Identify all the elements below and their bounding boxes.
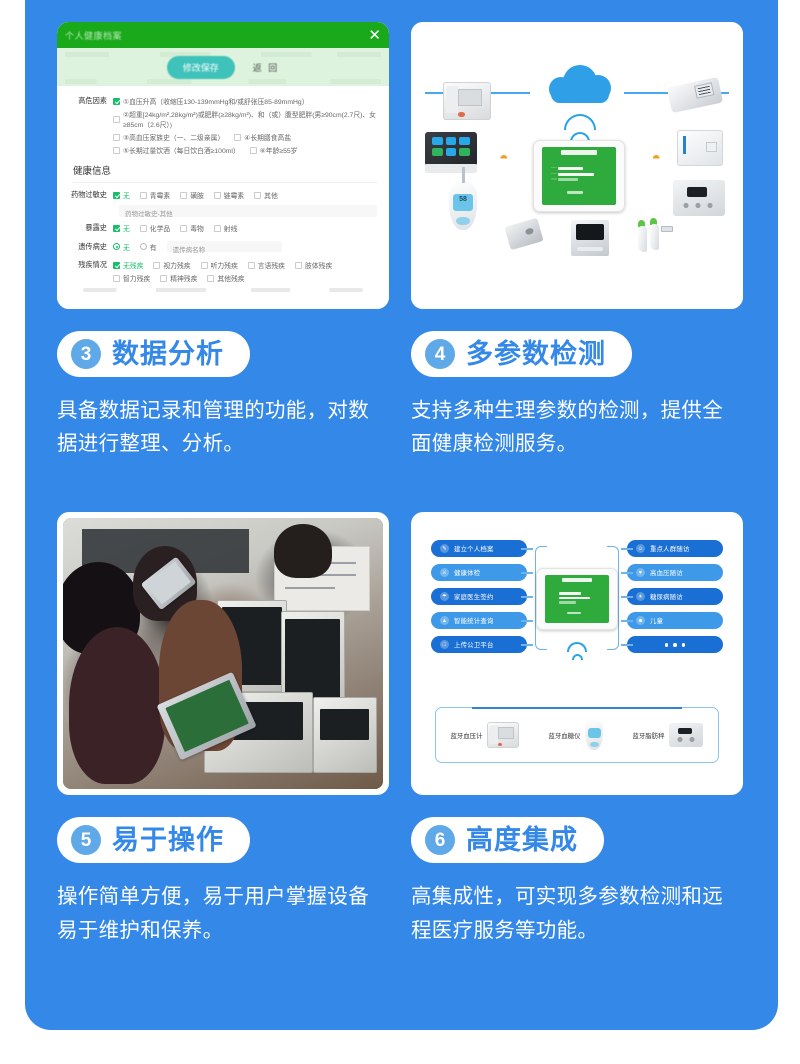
feature-pill: 4 多参数检测 xyxy=(411,331,632,377)
drug-allergy-row: 药物过敏史 无 青霉素 xyxy=(69,190,377,200)
risk-option[interactable]: ②超重[24kg/m²,28kg/m²)或肥胖(≥28kg/m²)、和（或）腹型… xyxy=(113,109,377,129)
genetic-option[interactable]: 无 xyxy=(113,242,130,252)
blood-pressure-monitor-icon xyxy=(443,82,491,120)
feature-6-description: 高集成性，可实现多参数检测和远程医疗服务等功能。 xyxy=(411,880,741,946)
tag-label: 建立个人档案 xyxy=(454,544,494,553)
exposure-option[interactable]: 无 xyxy=(113,223,130,233)
upload-icon: □ xyxy=(440,640,449,649)
drug-allergy-option[interactable]: 无 xyxy=(113,190,130,200)
bluetooth-fat-scale: 蓝牙脂肪秤 xyxy=(633,723,704,747)
health-info-section-title: 健康信息 xyxy=(73,163,377,183)
disability-option[interactable]: 精神残疾 xyxy=(160,273,197,283)
ecg-device-icon xyxy=(673,180,725,216)
feature-pill: 3 数据分析 xyxy=(57,331,250,377)
form-body: 高危因素 ①血压升高（收缩压130-139mmHg和/或舒张压85-89mmHg… xyxy=(57,86,389,292)
checkbox-icon[interactable] xyxy=(254,192,261,199)
drug-allergy-other-input[interactable]: 药物过敏史-其他 xyxy=(119,205,377,217)
tablet-screen xyxy=(545,575,609,623)
tag-hypertension-followup[interactable]: ♥ 高血压随访 xyxy=(627,564,723,581)
radio-icon[interactable] xyxy=(140,243,147,250)
disability-option[interactable]: 肢体残疾 xyxy=(295,260,332,270)
exposure-option[interactable]: 毒物 xyxy=(180,223,204,233)
feature-pill: 5 易于操作 xyxy=(57,817,250,863)
disability-option[interactable]: 其他残疾 xyxy=(207,273,244,283)
exposure-label: 暴露史 xyxy=(69,223,113,233)
checkbox-icon[interactable] xyxy=(201,262,208,269)
feature-row-bottom: 5 易于操作 操作简单方便，易于用户掌握设备易于维护和保养。 ✎ 建立个人档案 xyxy=(57,512,750,946)
connector-dash xyxy=(621,644,633,645)
tag-key-population-followup[interactable]: ☺ 重点人群随访 xyxy=(627,540,723,557)
checkbox-icon[interactable] xyxy=(113,192,120,199)
feature-block-5: 5 易于操作 操作简单方便，易于用户掌握设备易于维护和保养。 xyxy=(57,512,389,946)
genetic-disease-name-input[interactable]: 遗传病名称 xyxy=(167,241,282,252)
tag-label: 健康体检 xyxy=(454,568,480,577)
risk-option[interactable]: ⑥年龄≥55岁 xyxy=(250,145,298,155)
document-edit-icon: ✎ xyxy=(440,544,449,553)
tag-label: 重点人群随访 xyxy=(650,544,690,553)
doctor-icon: ☂ xyxy=(440,592,449,601)
tag-label: 上传公卫平台 xyxy=(454,640,494,649)
drug-allergy-option[interactable]: 链霉素 xyxy=(214,190,244,200)
bluetooth-icon: ◓ xyxy=(499,150,509,168)
disability-row: 残疾情况 无残疾 视力残疾 xyxy=(69,260,377,283)
risk-option[interactable]: ①血压升高（收缩压130-139mmHg和/或舒张压85-89mmHg） xyxy=(113,96,377,106)
checkbox-icon[interactable] xyxy=(207,275,214,282)
feature-block-4: ◓ ◓ 58 xyxy=(411,22,743,460)
checkbox-icon[interactable] xyxy=(234,134,241,141)
option-label: 有 xyxy=(150,242,157,252)
tablet-terminal-icon xyxy=(533,140,625,212)
feature-4-description: 支持多种生理参数的检测，提供全面健康检测服务。 xyxy=(411,394,741,460)
option-label: 肢体残疾 xyxy=(305,260,332,270)
checkbox-icon[interactable] xyxy=(140,192,147,199)
tag-children[interactable]: ☻ 儿童 xyxy=(627,612,723,629)
fat-scale-icon xyxy=(669,723,703,747)
heart-icon: ♥ xyxy=(636,568,645,577)
bluetooth-icon-right: ◓ xyxy=(651,150,661,168)
option-label: 其他残疾 xyxy=(217,273,244,283)
tag-smart-statistics-query[interactable]: ▲ 智能统计查询 xyxy=(431,612,527,629)
handheld-scanner-icon xyxy=(504,218,543,250)
risk-option-label: ④长期膳食高盐 xyxy=(244,132,291,142)
connector-dash xyxy=(621,596,633,597)
tag-label: 儿童 xyxy=(650,616,663,625)
checkbox-icon[interactable] xyxy=(113,275,120,282)
connector-dash xyxy=(621,548,633,549)
form-title-bar: 个人健康档案 ✕ xyxy=(57,22,389,48)
infrared-thermometer-icon xyxy=(637,218,679,256)
disability-option[interactable]: 无残疾 xyxy=(113,260,143,270)
tag-upload-public-health-platform[interactable]: □ 上传公卫平台 xyxy=(431,636,527,653)
risk-factor-label: 高危因素 xyxy=(69,96,113,106)
device-label: 蓝牙血压计 xyxy=(451,731,483,740)
feature-5-description: 操作简单方便，易于用户掌握设备易于维护和保养。 xyxy=(57,880,387,946)
checkbox-icon[interactable] xyxy=(180,225,187,232)
hub-connector-line xyxy=(472,707,682,708)
risk-option[interactable]: ④长期膳食高盐 xyxy=(234,132,291,142)
disability-option[interactable]: 视力残疾 xyxy=(153,260,190,270)
exposure-option[interactable]: 射线 xyxy=(214,223,238,233)
feature-3-heading: 3 数据分析 xyxy=(57,331,389,377)
glucose-meter-icon: 58 xyxy=(449,182,477,230)
checkbox-icon[interactable] xyxy=(113,116,120,123)
checkbox-icon[interactable] xyxy=(295,262,302,269)
tag-label: 智能统计查询 xyxy=(454,616,494,625)
exposure-row: 暴露史 无 化学品 xyxy=(69,223,377,233)
option-label: 言语残疾 xyxy=(258,260,285,270)
option-label: 智力残疾 xyxy=(123,273,150,283)
disability-options: 无残疾 视力残疾 听力残疾 xyxy=(113,260,377,283)
option-label: 射线 xyxy=(224,223,238,233)
back-button[interactable]: 返 回 xyxy=(253,61,280,74)
genetic-history-label: 遗传病史 xyxy=(69,242,113,252)
integration-diagram-card: ✎ 建立个人档案 ⚔ 健康体检 ☂ 家庭医生签约 xyxy=(411,512,743,795)
child-icon: ☻ xyxy=(636,616,645,625)
bluetooth-bp-device: 蓝牙血压计 xyxy=(451,722,520,748)
feature-block-3: 个人健康档案 ✕ 修改保存 返 回 高危因素 xyxy=(57,22,389,460)
risk-option-label: ①血压升高（收缩压130-139mmHg和/或舒张压85-89mmHg） xyxy=(123,96,309,106)
feature-number-badge: 4 xyxy=(425,339,455,369)
genetic-history-options: 无 有 遗传病名称 xyxy=(113,241,377,252)
tag-health-checkup[interactable]: ⚔ 健康体检 xyxy=(431,564,527,581)
option-label: 无残疾 xyxy=(123,260,143,270)
checkbox-icon[interactable] xyxy=(113,262,120,269)
left-tag-list: ✎ 建立个人档案 ⚔ 健康体检 ☂ 家庭医生签约 xyxy=(431,540,527,653)
risk-option[interactable]: ⑤长期过量饮酒（每日饮白酒≥100ml） xyxy=(113,145,240,155)
genetic-option[interactable]: 有 xyxy=(140,242,157,252)
training-photo xyxy=(63,518,383,789)
feature-title: 易于操作 xyxy=(112,827,224,854)
option-label: 毒物 xyxy=(190,223,204,233)
content-area: 个人健康档案 ✕ 修改保存 返 回 高危因素 xyxy=(25,0,778,1030)
bluetooth-glucose-device: 蓝牙血糖仪 xyxy=(549,720,604,750)
feature-block-6: ✎ 建立个人档案 ⚔ 健康体检 ☂ 家庭医生签约 xyxy=(411,512,743,946)
center-tablet-terminal xyxy=(536,568,618,630)
pulse-oximeter-icon xyxy=(667,77,723,113)
checkbox-icon[interactable] xyxy=(214,192,221,199)
checkbox-icon[interactable] xyxy=(153,262,160,269)
feature-3-description: 具备数据记录和管理的功能，对数据进行整理、分析。 xyxy=(57,394,387,460)
drug-allergy-option[interactable]: 其他 xyxy=(254,190,278,200)
more-dots-icon[interactable] xyxy=(627,636,723,653)
drug-allergy-options: 无 青霉素 磺胺 xyxy=(113,190,377,200)
tag-family-doctor-contract[interactable]: ☂ 家庭医生签约 xyxy=(431,588,527,605)
option-label: 其他 xyxy=(264,190,278,200)
multi-parameter-terminal-icon xyxy=(425,132,477,166)
option-label: 无 xyxy=(123,223,130,233)
option-label: 视力残疾 xyxy=(163,260,190,270)
risk-factor-options: ①血压升高（收缩压130-139mmHg和/或舒张压85-89mmHg） ②超重… xyxy=(113,96,377,155)
option-label: 无 xyxy=(123,190,130,200)
connector-dash xyxy=(521,644,533,645)
feature-pill: 6 高度集成 xyxy=(411,817,604,863)
integration-diagram: ✎ 建立个人档案 ⚔ 健康体检 ☂ 家庭医生签约 xyxy=(417,518,737,789)
glucose-device-icon xyxy=(585,720,603,750)
multi-parameter-devices-diagram: ◓ ◓ 58 xyxy=(411,22,743,309)
option-label: 精神残疾 xyxy=(170,273,197,283)
option-label: 无 xyxy=(123,242,130,252)
chart-icon: ▲ xyxy=(440,616,449,625)
checkbox-icon[interactable] xyxy=(180,192,187,199)
feature-title: 高度集成 xyxy=(466,827,578,854)
radio-icon[interactable] xyxy=(113,243,120,250)
disability-label: 残疾情况 xyxy=(69,260,113,270)
tag-label: 高血压随访 xyxy=(650,568,683,577)
risk-factor-row: 高危因素 ①血压升高（收缩压130-139mmHg和/或舒张压85-89mmHg… xyxy=(69,96,377,155)
risk-option[interactable]: ③高血压家族史（一、二级亲属） xyxy=(113,132,224,142)
option-label: 磺胺 xyxy=(190,190,204,200)
urine-analyzer-icon xyxy=(677,130,723,166)
drug-allergy-option[interactable]: 磺胺 xyxy=(180,190,204,200)
checkbox-icon[interactable] xyxy=(113,147,120,154)
connector-dash xyxy=(621,572,633,573)
devices-diagram-card: ◓ ◓ 58 xyxy=(411,22,743,309)
device-label: 蓝牙血糖仪 xyxy=(549,731,581,740)
group-icon: ☺ xyxy=(636,544,645,553)
feature-4-heading: 4 多参数检测 xyxy=(411,331,743,377)
tablet-screen xyxy=(542,147,616,205)
connector-dash xyxy=(521,596,533,597)
right-tag-list: ☺ 重点人群随访 ♥ 高血压随访 ☀ 糖尿病随访 xyxy=(627,540,723,653)
feature-row-top: 个人健康档案 ✕ 修改保存 返 回 高危因素 xyxy=(57,22,750,460)
form-ghost-fields-bottom xyxy=(65,79,381,84)
risk-option-label: ③高血压家族史（一、二级亲属） xyxy=(123,132,224,142)
exposure-options: 无 化学品 毒物 xyxy=(113,223,377,233)
feature-number-badge: 5 xyxy=(71,825,101,855)
tag-label: 糖尿病随访 xyxy=(650,592,683,601)
cloud-icon xyxy=(549,65,611,105)
risk-option-label: ⑥年龄≥55岁 xyxy=(260,145,298,155)
disability-option[interactable]: 听力残疾 xyxy=(201,260,238,270)
option-label: 链霉素 xyxy=(224,190,244,200)
tag-label: 家庭医生签约 xyxy=(454,592,494,601)
connector-dash xyxy=(621,620,633,621)
option-label: 听力残疾 xyxy=(211,260,238,270)
checkbox-icon[interactable] xyxy=(250,147,257,154)
connector-dash xyxy=(521,620,533,621)
connector-dash xyxy=(521,548,533,549)
feature-number-badge: 6 xyxy=(425,825,455,855)
feature-5-heading: 5 易于操作 xyxy=(57,817,389,863)
tag-diabetes-followup[interactable]: ☀ 糖尿病随访 xyxy=(627,588,723,605)
option-label: 化学品 xyxy=(150,223,170,233)
connector-dash xyxy=(521,572,533,573)
drug-allergy-option[interactable]: 青霉素 xyxy=(140,190,170,200)
training-photo-card xyxy=(57,512,389,795)
checkbox-icon[interactable] xyxy=(248,262,255,269)
device-label: 蓝牙脂肪秤 xyxy=(633,731,665,740)
health-record-form: 个人健康档案 ✕ 修改保存 返 回 高危因素 xyxy=(57,22,389,309)
bluetooth-hub-icon xyxy=(566,642,588,662)
risk-option-label: ⑤长期过量饮酒（每日饮白酒≥100ml） xyxy=(123,145,240,155)
feature-title: 数据分析 xyxy=(112,341,224,368)
bluetooth-devices-box: 蓝牙血压计 蓝牙血糖仪 xyxy=(435,707,719,763)
checkbox-icon[interactable] xyxy=(113,225,120,232)
promo-page: 个人健康档案 ✕ 修改保存 返 回 高危因素 xyxy=(0,0,800,1064)
biochemistry-analyzer-icon xyxy=(571,220,609,256)
globe-icon: ☀ xyxy=(636,592,645,601)
form-window-title: 个人健康档案 xyxy=(65,29,122,42)
drug-allergy-label: 药物过敏史 xyxy=(69,190,113,200)
health-record-screenshot-card: 个人健康档案 ✕ 修改保存 返 回 高危因素 xyxy=(57,22,389,309)
feature-6-heading: 6 高度集成 xyxy=(411,817,743,863)
exposure-option[interactable]: 化学品 xyxy=(140,223,170,233)
close-icon[interactable]: ✕ xyxy=(368,28,381,43)
checkbox-icon[interactable] xyxy=(140,225,147,232)
checkbox-icon[interactable] xyxy=(113,98,120,105)
form-ghost-divider xyxy=(83,288,363,292)
form-action-bar: 修改保存 返 回 xyxy=(57,48,389,86)
disability-option[interactable]: 智力残疾 xyxy=(113,273,150,283)
checkbox-icon[interactable] xyxy=(160,275,167,282)
tag-create-personal-record[interactable]: ✎ 建立个人档案 xyxy=(431,540,527,557)
disability-option[interactable]: 言语残疾 xyxy=(248,260,285,270)
feature-title: 多参数检测 xyxy=(466,341,606,368)
option-label: 青霉素 xyxy=(150,190,170,200)
genetic-history-row: 遗传病史 无 有 xyxy=(69,241,377,252)
stethoscope-icon: ⚔ xyxy=(440,568,449,577)
save-button[interactable]: 修改保存 xyxy=(167,56,235,79)
checkbox-icon[interactable] xyxy=(214,225,221,232)
risk-option-label: ②超重[24kg/m²,28kg/m²)或肥胖(≥28kg/m²)、和（或）腹型… xyxy=(123,109,377,129)
bp-device-icon xyxy=(487,722,519,748)
feature-number-badge: 3 xyxy=(71,339,101,369)
checkbox-icon[interactable] xyxy=(113,134,120,141)
